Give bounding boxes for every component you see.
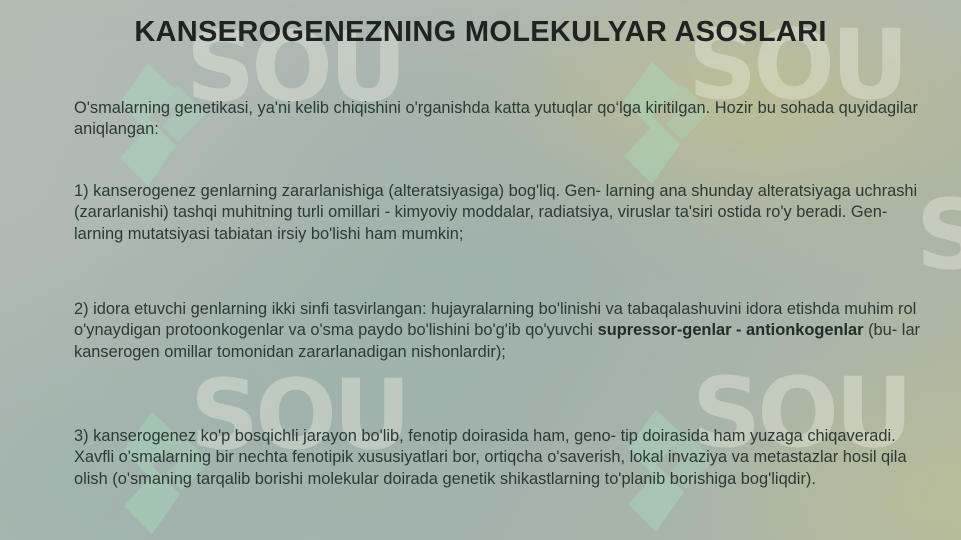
paragraph-point-1: 1) kanserogenez genlarning zararlanishig… xyxy=(74,181,922,245)
paragraph-point-2-emphasis: supressor-genlar - antionkogenlar xyxy=(598,321,864,339)
slide-content: KANSEROGENEZNING MOLEKULYAR ASOSLARI O's… xyxy=(0,0,961,540)
page-title: KANSEROGENEZNING MOLEKULYAR ASOSLARI xyxy=(0,16,961,49)
paragraph-intro: O'smalarning genetikasi, ya'ni kelib chi… xyxy=(74,98,922,141)
presentation-slide: SOU SOU SOU SOU SOU KANSEROGENEZNING MOL… xyxy=(0,0,961,540)
paragraph-point-2: 2) idora etuvchi genlarning ikki sinfi t… xyxy=(74,299,922,363)
paragraph-point-3: 3) kanserogenez ko'p bosqichli jarayon b… xyxy=(74,426,922,490)
